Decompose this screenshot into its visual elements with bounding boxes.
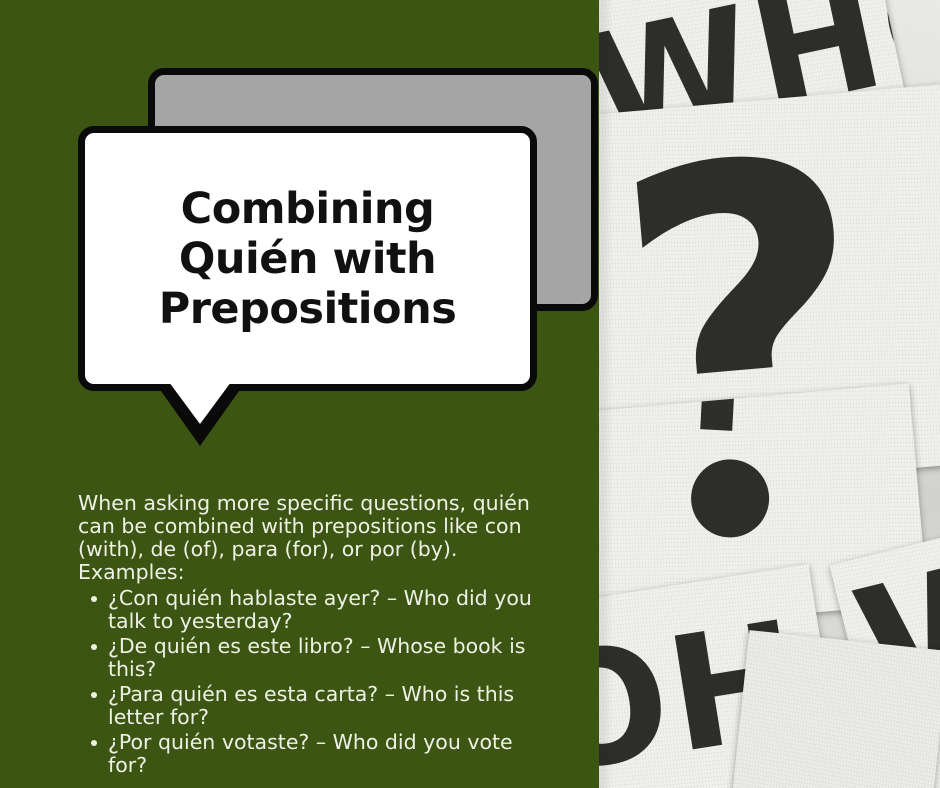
list-item: ¿Para quién es esta carta? – Who is this… bbox=[78, 683, 548, 729]
bullet-dot-icon bbox=[91, 740, 97, 746]
speech-bubble-body: Combining Quién with Prepositions bbox=[78, 126, 537, 391]
paper-blank-mid bbox=[730, 630, 940, 788]
bullet-dot-icon bbox=[91, 692, 97, 698]
speech-bubble-tail-fill bbox=[166, 378, 234, 424]
slide-canvas: Combining Quién with Prepositions When a… bbox=[0, 0, 940, 788]
slide-title: Combining Quién with Prepositions bbox=[141, 184, 475, 334]
intro-paragraph: When asking more specific questions, qui… bbox=[78, 492, 548, 561]
list-item: ¿De quién es este libro? – Whose book is… bbox=[78, 635, 548, 681]
list-item-text: ¿Con quién hablaste ayer? – Who did you … bbox=[108, 586, 532, 633]
bullet-dot-icon bbox=[91, 644, 97, 650]
list-item-text: ¿De quién es este libro? – Whose book is… bbox=[108, 634, 525, 681]
list-item: ¿Por quién votaste? – Who did you vote f… bbox=[78, 731, 548, 777]
bullet-dot-icon bbox=[91, 596, 97, 602]
speech-bubble: Combining Quién with Prepositions bbox=[78, 126, 537, 391]
list-item-text: ¿Para quién es esta carta? – Who is this… bbox=[108, 682, 514, 729]
question-mark-dot-glyph bbox=[688, 456, 773, 541]
list-item: ¿Con quién hablaste ayer? – Who did you … bbox=[78, 587, 548, 633]
question-mark-photo: WHO ? W OH bbox=[599, 0, 940, 788]
examples-label: Examples: bbox=[78, 561, 548, 584]
list-item-text: ¿Por quién votaste? – Who did you vote f… bbox=[108, 730, 513, 777]
examples-list: ¿Con quién hablaste ayer? – Who did you … bbox=[78, 587, 548, 777]
body-copy-block: When asking more specific questions, qui… bbox=[78, 492, 548, 779]
